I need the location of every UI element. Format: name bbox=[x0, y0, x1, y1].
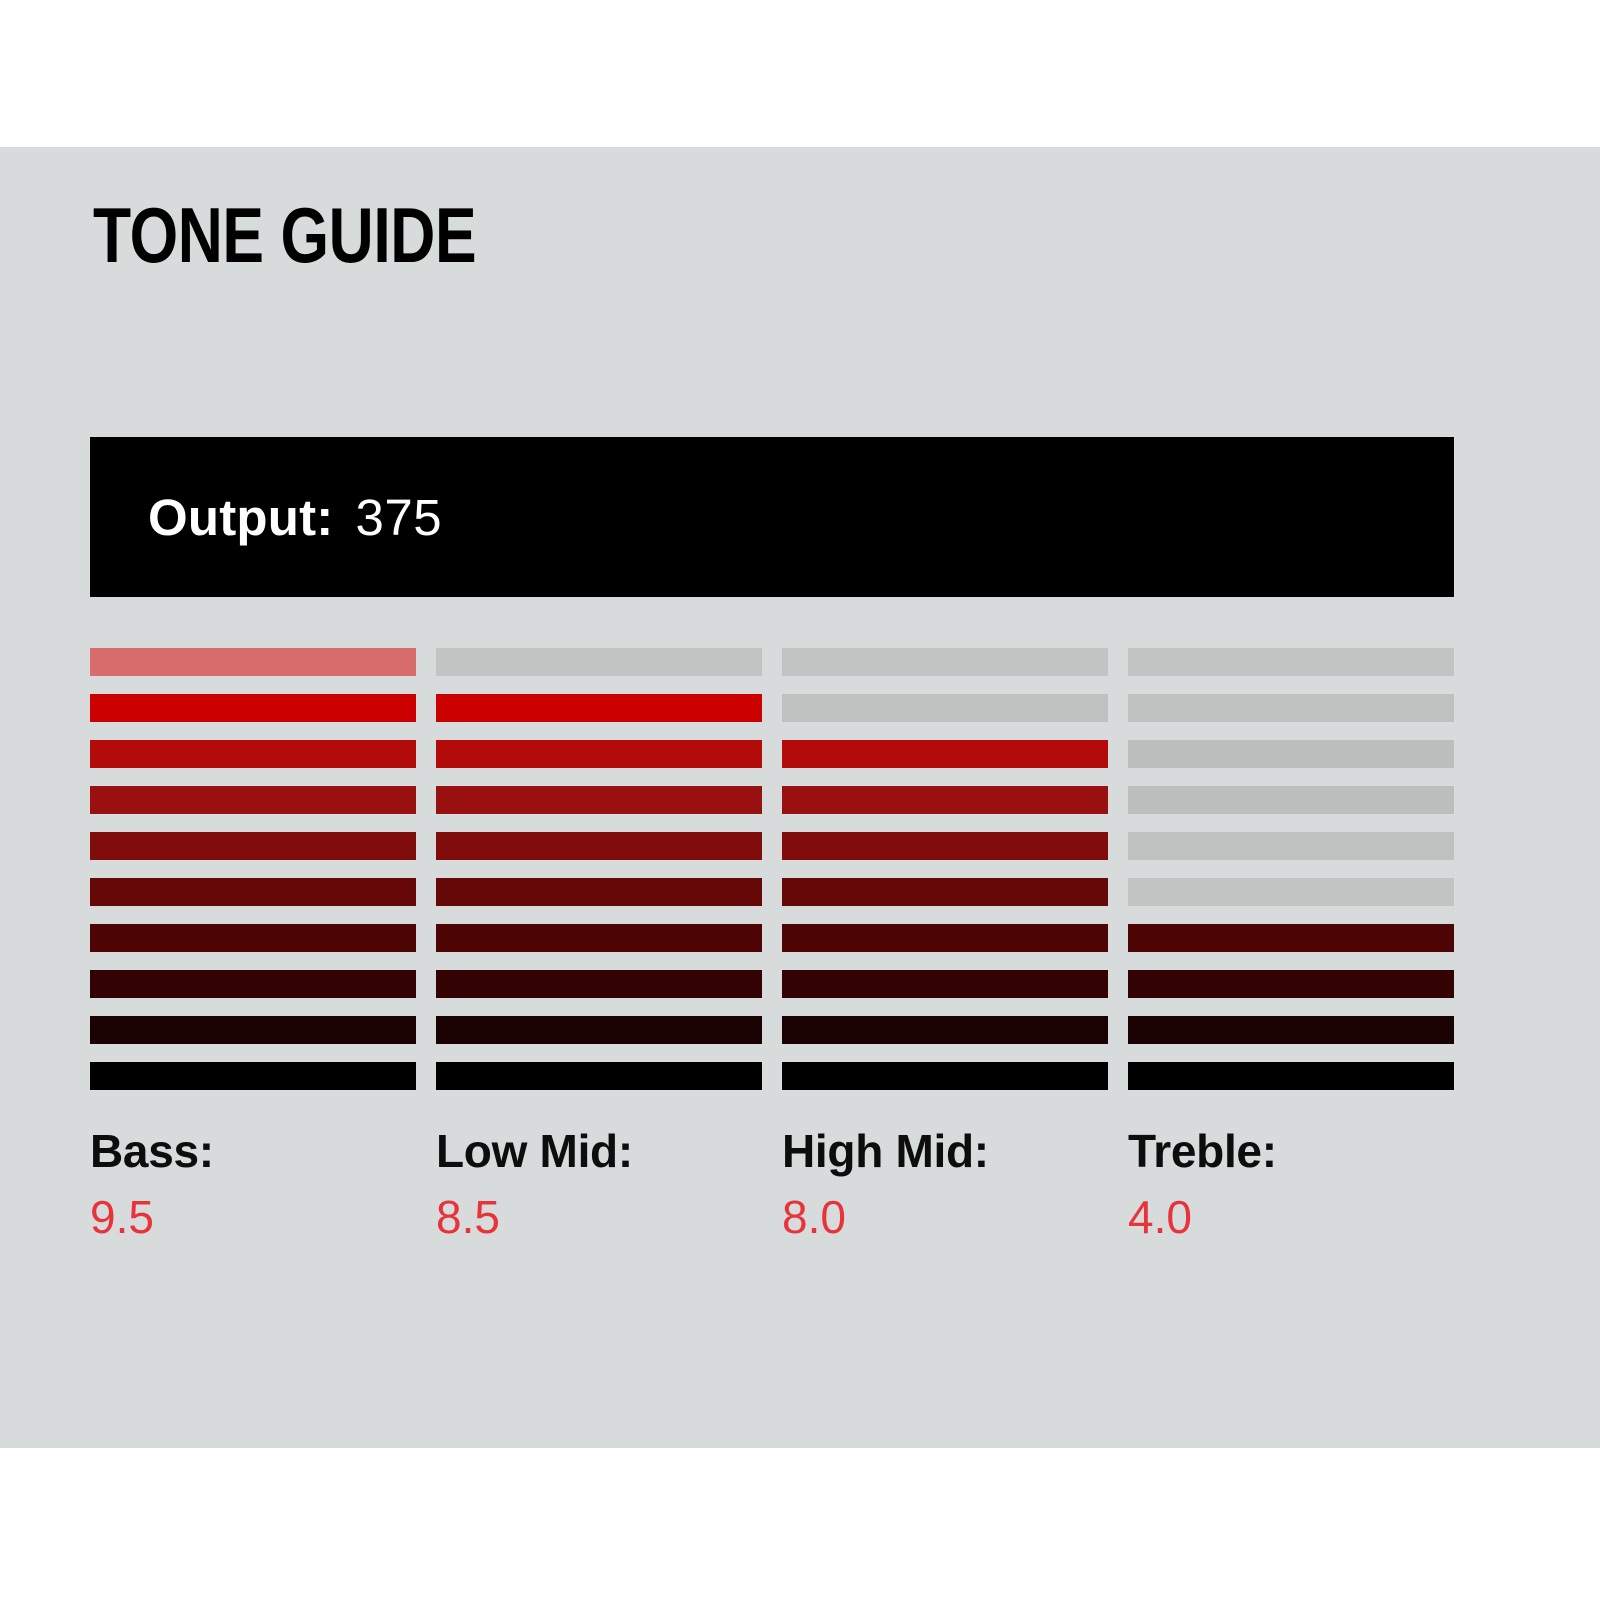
meter-segment[interactable] bbox=[436, 786, 762, 814]
eq-meter-grid bbox=[90, 648, 1454, 1090]
meter-segment[interactable] bbox=[436, 648, 762, 676]
meter-segment[interactable] bbox=[436, 1016, 762, 1044]
meter-segment[interactable] bbox=[90, 786, 416, 814]
meter-column-bass[interactable] bbox=[90, 648, 416, 1090]
meter-segment[interactable] bbox=[436, 694, 762, 722]
band-value: 8.0 bbox=[782, 1182, 1108, 1252]
meter-segment[interactable] bbox=[1128, 832, 1454, 860]
band-value: 9.5 bbox=[90, 1182, 416, 1252]
meter-segment[interactable] bbox=[90, 832, 416, 860]
eq-label-row: Bass:9.5Low Mid:8.5High Mid:8.0Treble:4.… bbox=[90, 1120, 1454, 1252]
meter-segment[interactable] bbox=[782, 648, 1108, 676]
meter-segment[interactable] bbox=[436, 970, 762, 998]
meter-segment[interactable] bbox=[90, 648, 416, 676]
band-name: Bass: bbox=[90, 1120, 416, 1182]
output-value: 375 bbox=[355, 488, 442, 547]
page-title: TONE GUIDE bbox=[93, 196, 476, 274]
meter-segment[interactable] bbox=[782, 1016, 1108, 1044]
band-value: 4.0 bbox=[1128, 1182, 1454, 1252]
output-readout-bar: Output: 375 bbox=[90, 437, 1454, 597]
meter-segment[interactable] bbox=[1128, 1062, 1454, 1090]
meter-segment[interactable] bbox=[436, 878, 762, 906]
meter-segment[interactable] bbox=[436, 924, 762, 952]
meter-segment[interactable] bbox=[782, 878, 1108, 906]
eq-label-bass: Bass:9.5 bbox=[90, 1120, 416, 1252]
meter-segment[interactable] bbox=[436, 740, 762, 768]
meter-segment[interactable] bbox=[90, 924, 416, 952]
meter-segment[interactable] bbox=[1128, 924, 1454, 952]
band-value: 8.5 bbox=[436, 1182, 762, 1252]
tone-guide-screen: TONE GUIDE Output: 375 Bass:9.5Low Mid:8… bbox=[0, 0, 1600, 1600]
output-label: Output: bbox=[148, 488, 333, 547]
meter-segment[interactable] bbox=[90, 740, 416, 768]
meter-segment[interactable] bbox=[90, 694, 416, 722]
meter-column-treble[interactable] bbox=[1128, 648, 1454, 1090]
eq-label-treble: Treble:4.0 bbox=[1128, 1120, 1454, 1252]
meter-segment[interactable] bbox=[1128, 740, 1454, 768]
meter-segment[interactable] bbox=[436, 832, 762, 860]
meter-segment[interactable] bbox=[1128, 878, 1454, 906]
meter-column-low-mid[interactable] bbox=[436, 648, 762, 1090]
band-name: Low Mid: bbox=[436, 1120, 762, 1182]
meter-segment[interactable] bbox=[782, 786, 1108, 814]
meter-segment[interactable] bbox=[436, 1062, 762, 1090]
meter-segment[interactable] bbox=[782, 832, 1108, 860]
meter-segment[interactable] bbox=[1128, 694, 1454, 722]
meter-segment[interactable] bbox=[90, 970, 416, 998]
meter-segment[interactable] bbox=[782, 970, 1108, 998]
meter-segment[interactable] bbox=[782, 1062, 1108, 1090]
meter-segment[interactable] bbox=[782, 740, 1108, 768]
output-readout-content: Output: 375 bbox=[148, 488, 442, 547]
meter-segment[interactable] bbox=[90, 878, 416, 906]
meter-segment[interactable] bbox=[1128, 648, 1454, 676]
eq-label-high-mid: High Mid:8.0 bbox=[782, 1120, 1108, 1252]
meter-segment[interactable] bbox=[90, 1016, 416, 1044]
meter-segment[interactable] bbox=[1128, 970, 1454, 998]
meter-segment[interactable] bbox=[1128, 1016, 1454, 1044]
band-name: High Mid: bbox=[782, 1120, 1108, 1182]
meter-segment[interactable] bbox=[782, 694, 1108, 722]
band-name: Treble: bbox=[1128, 1120, 1454, 1182]
eq-label-low-mid: Low Mid:8.5 bbox=[436, 1120, 762, 1252]
meter-segment[interactable] bbox=[782, 924, 1108, 952]
meter-segment[interactable] bbox=[1128, 786, 1454, 814]
meter-column-high-mid[interactable] bbox=[782, 648, 1108, 1090]
meter-segment[interactable] bbox=[90, 1062, 416, 1090]
